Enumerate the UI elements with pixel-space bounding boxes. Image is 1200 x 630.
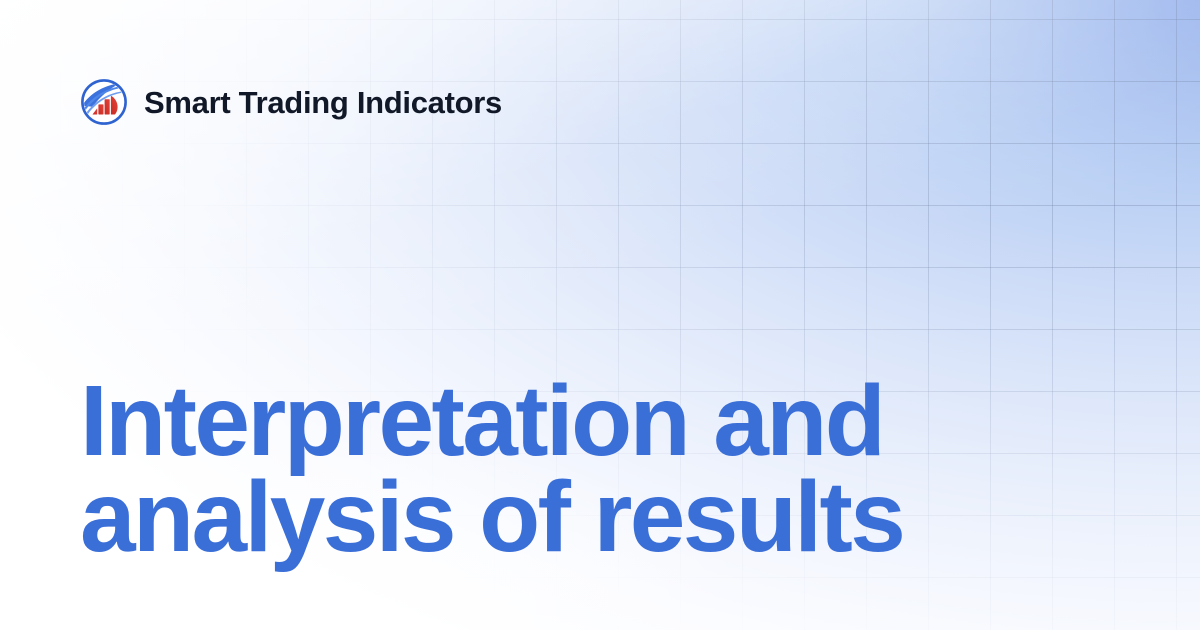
trading-chart-circle-logo-icon xyxy=(80,78,128,126)
page-title: Interpretation and analysis of results xyxy=(80,373,1090,565)
brand-name: Smart Trading Indicators xyxy=(144,87,502,118)
page-title-line-2: analysis of results xyxy=(80,469,1090,565)
brand-lockup: Smart Trading Indicators xyxy=(80,78,502,126)
page-title-line-1: Interpretation and xyxy=(80,373,1090,469)
og-card: Smart Trading Indicators Interpretation … xyxy=(0,0,1200,630)
